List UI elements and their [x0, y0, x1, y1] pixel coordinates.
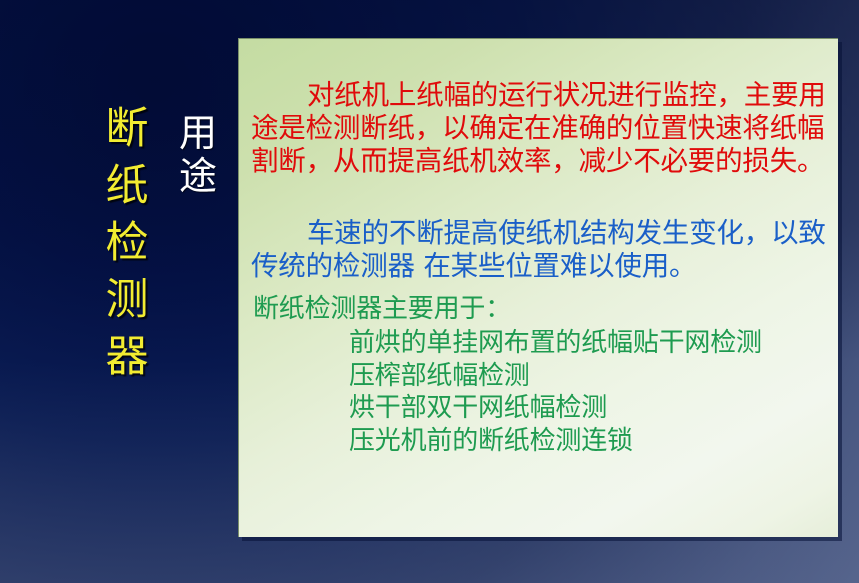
- vertical-title-char-3: 检: [106, 222, 149, 265]
- list-item: 压榨部纸幅检测: [349, 360, 762, 393]
- vertical-title-char-1: 断: [106, 108, 149, 151]
- vertical-title: 断 纸 检 测 器: [96, 108, 158, 379]
- list-item: 压光机前的断纸检测连锁: [349, 425, 762, 458]
- sub-label-char-1: 用: [179, 112, 217, 155]
- sub-label-purpose: 用 途: [176, 112, 220, 197]
- list-heading: 断纸检测器主要用于：: [253, 293, 511, 325]
- vertical-title-char-4: 测: [106, 279, 149, 322]
- application-list: 前烘的单挂网布置的纸幅贴干网检测 压榨部纸幅检测 烘干部双干网纸幅检测 压光机前…: [349, 327, 762, 457]
- list-item: 烘干部双干网纸幅检测: [349, 392, 762, 425]
- sub-label-char-2: 途: [179, 155, 217, 198]
- slide-canvas: 断 纸 检 测 器 用 途 对纸机上纸幅的运行状况进行监控，主要用途是检测断纸，…: [0, 0, 859, 583]
- list-item: 前烘的单挂网布置的纸幅贴干网检测: [349, 327, 762, 360]
- vertical-title-char-2: 纸: [106, 165, 149, 208]
- content-panel: 对纸机上纸幅的运行状况进行监控，主要用途是检测断纸，以确定在准确的位置快速将纸幅…: [238, 38, 838, 537]
- background-paragraph: 车速的不断提高使纸机结构发生变化，以致传统的检测器 在某些位置难以使用。: [251, 217, 833, 283]
- content-panel-inner: 对纸机上纸幅的运行状况进行监控，主要用途是检测断纸，以确定在准确的位置快速将纸幅…: [239, 39, 838, 537]
- vertical-title-char-5: 器: [106, 336, 149, 379]
- purpose-paragraph: 对纸机上纸幅的运行状况进行监控，主要用途是检测断纸，以确定在准确的位置快速将纸幅…: [251, 79, 831, 178]
